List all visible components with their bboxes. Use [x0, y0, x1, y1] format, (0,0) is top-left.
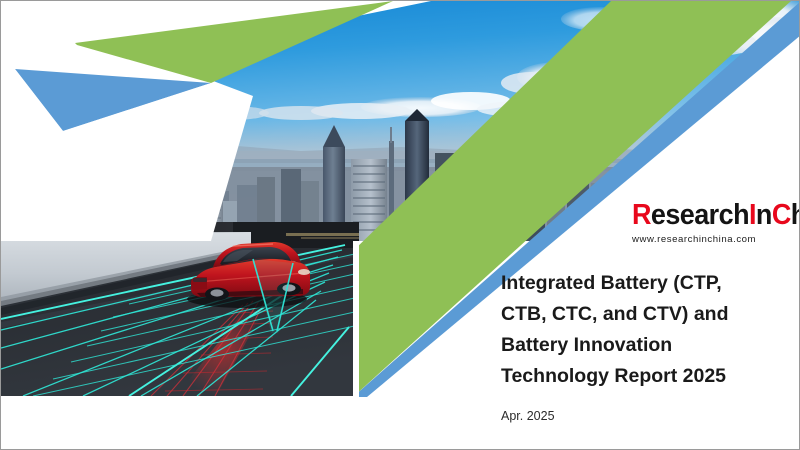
logo-seg-esearch: esearch: [651, 199, 749, 231]
logo-seg-r: R: [632, 199, 651, 231]
logo-seg-c: C: [772, 199, 791, 231]
logo-seg-hina: hina: [791, 199, 800, 231]
brand-logo: ResearchInChina www.researchinchina.com: [632, 201, 800, 245]
logo-wordmark: ResearchInChina: [632, 201, 800, 230]
title-block: Integrated Battery (CTP, CTB, CTC, and C…: [501, 268, 793, 423]
logo-url-text: www.researchinchina.com: [632, 230, 800, 245]
report-date: Apr. 2025: [501, 392, 793, 423]
logo-seg-n: n: [756, 199, 772, 231]
report-title: Integrated Battery (CTP, CTB, CTC, and C…: [501, 268, 793, 392]
report-cover-page: ResearchInChina www.researchinchina.com …: [0, 0, 800, 450]
